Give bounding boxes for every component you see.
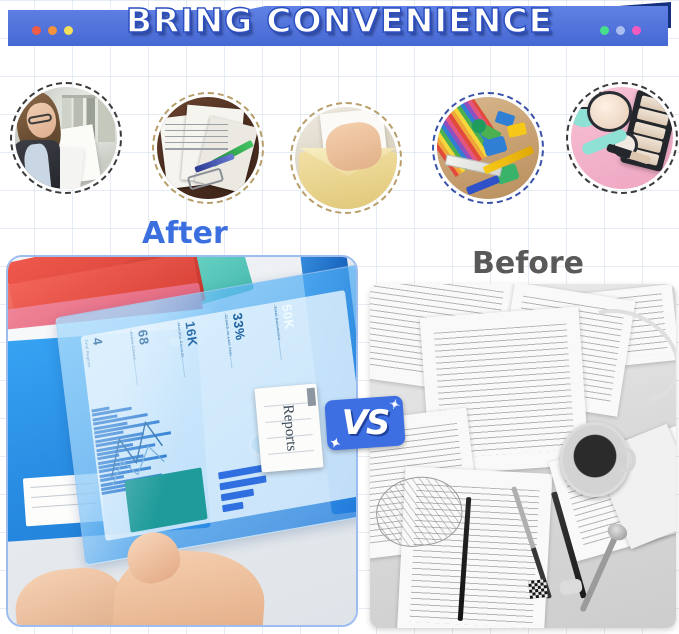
sheet-chart-block — [124, 467, 207, 532]
reports-label-text: Reports — [278, 404, 299, 452]
circle-photo-makeup — [566, 82, 678, 194]
stat-value-5: 50K Total Documents — [273, 303, 298, 341]
page-title: BRING CONVENIENCE — [0, 1, 679, 40]
qr-code — [528, 579, 548, 599]
poster-root: BRING CONVENIENCE — [0, 0, 679, 634]
header-banner: BRING CONVENIENCE — [0, 0, 679, 52]
stat-value-3: 16K Monthly Records — [177, 320, 202, 358]
circle-photo-envelope — [290, 102, 402, 214]
stat-value-4: 33% Growth vs Last Year — [224, 312, 250, 357]
circle-photo-documents — [152, 92, 264, 204]
label-before: Before — [472, 246, 584, 281]
sheet-line-chart — [103, 409, 171, 489]
label-after: After — [142, 216, 228, 251]
stat-value-1: 4 Total Regions — [84, 336, 108, 368]
reports-label-card: Reports — [254, 383, 323, 472]
circle-photo-stationery — [432, 92, 544, 204]
coffee-mug — [560, 422, 630, 498]
circle-photo-office-woman — [10, 82, 122, 194]
vs-badge: ✦ ✦ VS — [326, 398, 404, 448]
circle-photo-row — [0, 70, 679, 192]
stat-value-2: 68 Active Clients — [129, 328, 153, 360]
sheet-bar-chart — [91, 395, 185, 501]
before-photo — [370, 284, 676, 628]
